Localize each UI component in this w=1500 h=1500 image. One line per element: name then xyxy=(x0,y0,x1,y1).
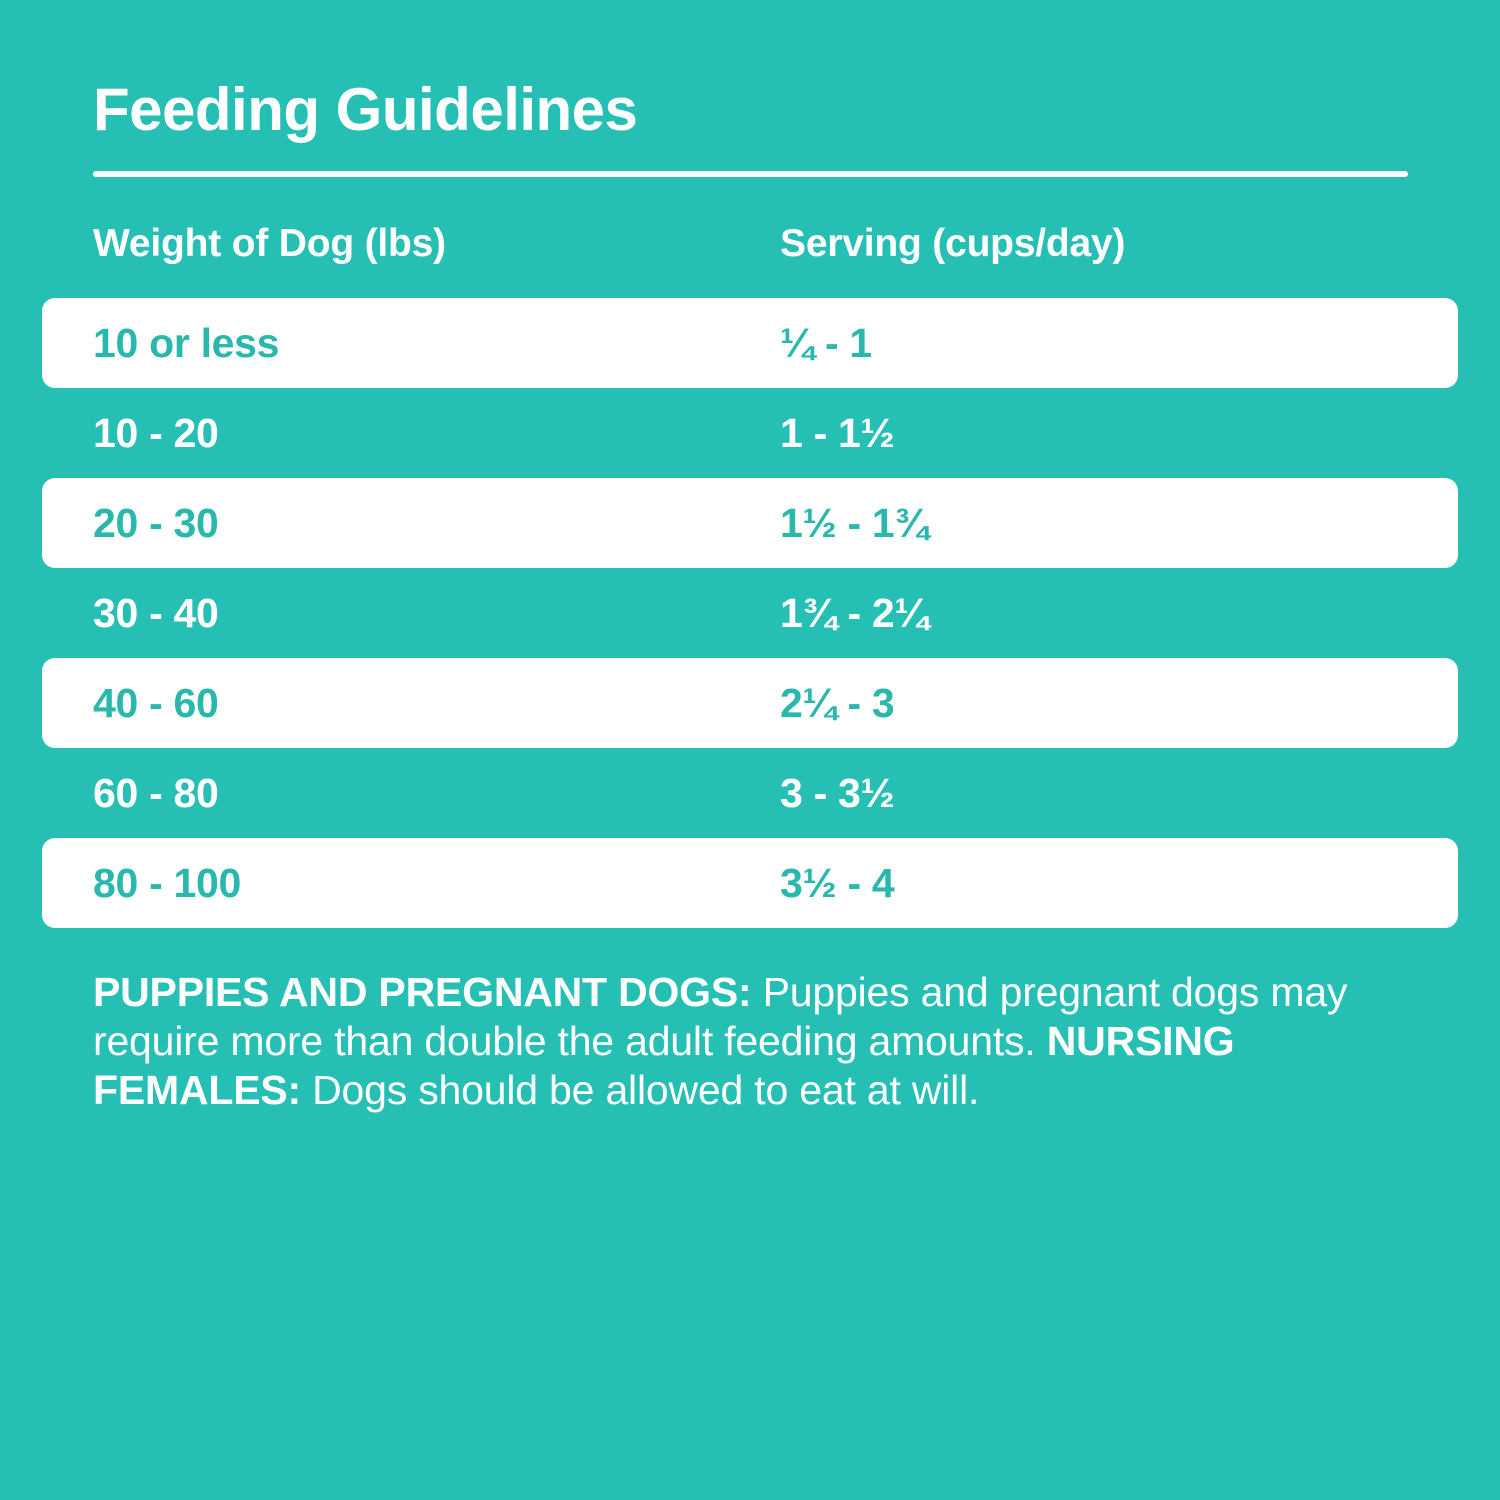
cell-serving: 1¾ - 2¼ xyxy=(780,568,928,658)
row-background xyxy=(42,568,1458,658)
cell-serving: 2¼ - 3 xyxy=(780,658,894,748)
row-background xyxy=(42,748,1458,838)
column-header-serving: Serving (cups/day) xyxy=(780,222,1125,266)
cell-weight: 40 - 60 xyxy=(93,658,219,748)
table-row: 20 - 30 1½ - 1¾ xyxy=(0,478,1500,568)
table-row: 60 - 80 3 - 3½ xyxy=(0,748,1500,838)
title-divider xyxy=(93,171,1408,177)
column-header-weight: Weight of Dog (lbs) xyxy=(93,222,446,266)
table-row: 30 - 40 1¾ - 2¼ xyxy=(0,568,1500,658)
row-background xyxy=(42,478,1458,568)
row-background xyxy=(42,658,1458,748)
cell-serving: 1 - 1½ xyxy=(780,388,894,478)
row-background xyxy=(42,388,1458,478)
row-background xyxy=(42,838,1458,928)
table-row: 10 or less ¼ - 1 xyxy=(0,298,1500,388)
page-title: Feeding Guidelines xyxy=(93,78,637,141)
cell-weight: 20 - 30 xyxy=(93,478,219,568)
footnote-label-puppies: PUPPIES AND PREGNANT DOGS: xyxy=(93,969,751,1015)
table-row: 80 - 100 3½ - 4 xyxy=(0,838,1500,928)
feeding-guidelines-panel: Feeding Guidelines Weight of Dog (lbs) S… xyxy=(0,0,1500,1500)
footnote-body-nursing: Dogs should be allowed to eat at will. xyxy=(301,1067,979,1113)
cell-serving: ¼ - 1 xyxy=(780,298,872,388)
cell-serving: 1½ - 1¾ xyxy=(780,478,928,568)
cell-serving: 3½ - 4 xyxy=(780,838,894,928)
cell-weight: 60 - 80 xyxy=(93,748,219,838)
table-row: 10 - 20 1 - 1½ xyxy=(0,388,1500,478)
cell-weight: 80 - 100 xyxy=(93,838,241,928)
cell-weight: 10 or less xyxy=(93,298,279,388)
cell-weight: 30 - 40 xyxy=(93,568,219,658)
table-row: 40 - 60 2¼ - 3 xyxy=(0,658,1500,748)
cell-weight: 10 - 20 xyxy=(93,388,219,478)
table-body: 10 or less ¼ - 1 10 - 20 1 - 1½ 20 - 30 … xyxy=(0,298,1500,928)
footnote-text: PUPPIES AND PREGNANT DOGS: Puppies and p… xyxy=(93,968,1423,1115)
table-header-row: Weight of Dog (lbs) Serving (cups/day) xyxy=(0,222,1500,274)
cell-serving: 3 - 3½ xyxy=(780,748,894,838)
